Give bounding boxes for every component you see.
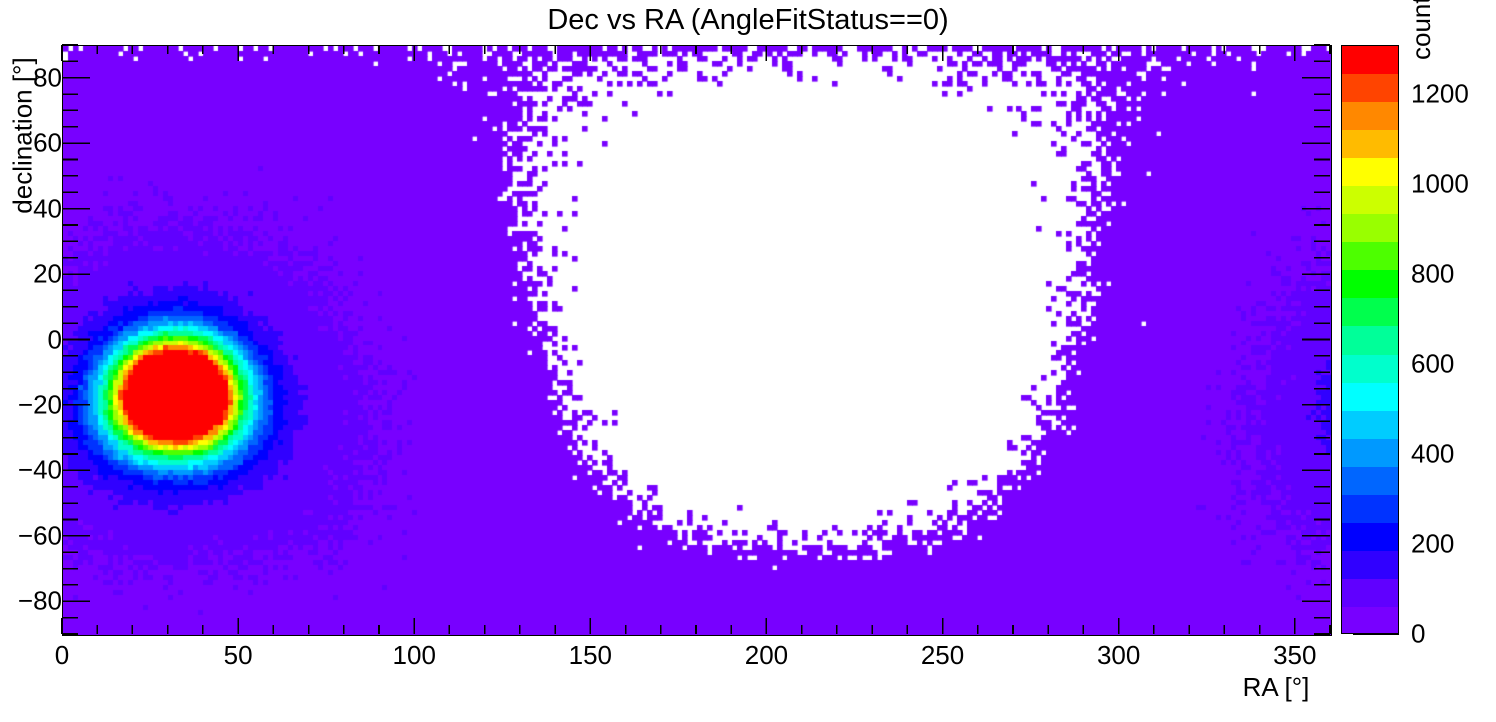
colorbar-band: [1342, 186, 1398, 214]
colorbar-band: [1342, 242, 1398, 270]
colorbar-band: [1342, 579, 1398, 607]
x-tick-label: 350: [1273, 640, 1316, 671]
colorbar-band: [1342, 158, 1398, 186]
colorbar-band: [1342, 214, 1398, 242]
y-tick-label: −80: [18, 586, 62, 617]
colorbar-band: [1342, 74, 1398, 102]
colorbar-band: [1342, 383, 1398, 411]
histogram-image: [63, 46, 1331, 635]
x-tick-label: 300: [1097, 640, 1140, 671]
y-tick-label: −20: [18, 389, 62, 420]
x-tick-label: 250: [921, 640, 964, 671]
plot-canvas: Dec vs RA (AngleFitStatus==0) 0501001502…: [0, 0, 1496, 722]
colorbar-band: [1342, 495, 1398, 523]
colorbar-band: [1342, 270, 1398, 298]
x-tick-label: 150: [569, 640, 612, 671]
colorbar-tick-label: 0: [1411, 619, 1425, 650]
x-tick-label: 100: [393, 640, 436, 671]
x-tick-label: 200: [745, 640, 788, 671]
x-tick-label: 0: [55, 640, 69, 671]
colorbar-title: count: [1406, 0, 1437, 60]
colorbar: [1341, 45, 1399, 634]
colorbar-tick-label: 800: [1411, 259, 1454, 290]
colorbar-tick-label: 400: [1411, 439, 1454, 470]
colorbar-band: [1342, 439, 1398, 467]
colorbar-band: [1342, 326, 1398, 354]
colorbar-band: [1342, 46, 1398, 74]
colorbar-band: [1342, 130, 1398, 158]
colorbar-tick-label: 600: [1411, 349, 1454, 380]
y-tick-label: 0: [48, 324, 62, 355]
y-tick-label: −60: [18, 520, 62, 551]
y-axis-title: declination [°]: [8, 41, 39, 231]
colorbar-band: [1342, 102, 1398, 130]
histogram-frame: [62, 45, 1332, 636]
colorbar-band: [1342, 411, 1398, 439]
y-tick-label: 20: [33, 259, 62, 290]
colorbar-band: [1342, 298, 1398, 326]
colorbar-band: [1342, 523, 1398, 551]
x-axis-title: RA [°]: [1216, 672, 1336, 703]
colorbar-band: [1342, 551, 1398, 579]
colorbar-tick-label: 1200: [1411, 79, 1469, 110]
colorbar-band: [1342, 467, 1398, 495]
colorbar-tick-label: 200: [1411, 529, 1454, 560]
colorbar-tick-label: 1000: [1411, 169, 1469, 200]
y-tick-label: −40: [18, 455, 62, 486]
page-title: Dec vs RA (AngleFitStatus==0): [0, 2, 1496, 38]
colorbar-band: [1342, 607, 1398, 634]
x-tick-label: 50: [224, 640, 253, 671]
colorbar-band: [1342, 355, 1398, 383]
